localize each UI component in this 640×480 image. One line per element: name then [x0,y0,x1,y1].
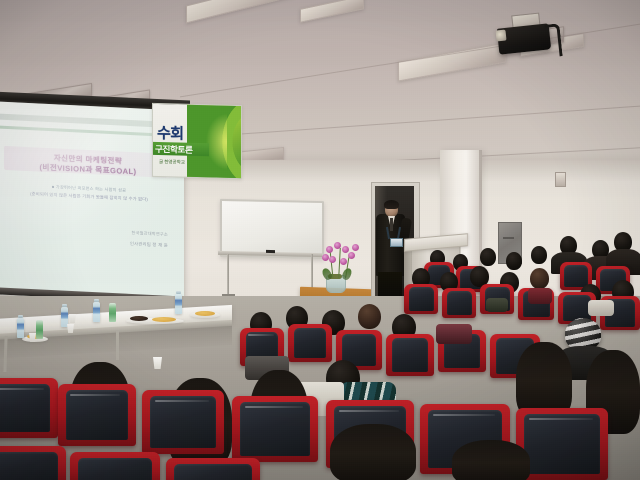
slide-credit-line-1: 한국철강대학연구소 [132,230,168,238]
seat-backrest-pad [150,396,216,448]
speaker-legs [378,272,402,298]
seat-highlight [245,406,303,408]
orchid-bloom [352,244,359,251]
table-leg [116,330,119,360]
audience-clothing [436,324,472,344]
ceiling-light-panel [186,0,294,23]
seat-backrest-pad [392,338,428,372]
bottle-cap [94,299,99,302]
seat-backrest-pad [447,291,472,315]
orchid-bloom [348,252,355,259]
audience-long-hair [330,424,416,480]
paper-cup [69,314,76,323]
audience-long-hair [452,440,530,480]
food-item [152,317,176,322]
wall-speaker-icon [555,172,566,187]
seat-backrest-pad [240,402,310,456]
seat-backrest-pad [409,287,434,311]
seat-highlight [0,388,44,390]
paper-cup [153,357,162,369]
audience-head [480,248,496,266]
audience-clothing [588,300,614,316]
seat-backrest-pad [294,328,326,358]
water-bottle [175,294,182,314]
slide-header-bar [0,114,172,128]
banner-footnote: 글 한영공학교 [159,159,185,166]
ceiling-seam [180,24,640,98]
seat-backrest-pad [78,458,152,480]
banner-title: 수회 [157,122,184,144]
orchid-bloom [322,254,329,261]
bottle-cap [176,291,181,294]
paper-cup [29,333,36,342]
orchid-bloom [342,246,349,253]
food-item [195,311,215,316]
audience-head [506,252,522,270]
water-bottle [93,302,100,322]
paper-cup [67,324,74,333]
seat-highlight [339,410,399,412]
water-bottle [61,307,68,327]
water-bottle [109,303,116,322]
slide-credit-line-2: 인사관리팀 정 재 윤 [130,241,168,249]
audience-head [531,246,547,264]
audience-clothing [486,298,508,312]
seat-highlight [248,334,274,336]
seat-backrest-pad [0,452,58,480]
slide-header-rule [0,126,176,138]
food-item [130,316,148,321]
seat-backrest-pad [66,390,128,440]
speaker-hair [384,200,399,209]
auditorium-photo: 발표자료 자신만의 마케팅전략 (비전VISION과 목표GOAL) ■ 가장뛰… [0,0,640,480]
name-badge [390,238,403,247]
seat-backrest-pad [564,265,588,287]
seat-highlight [155,400,209,402]
whiteboard-marker [266,250,275,253]
whiteboard-stand-leg [227,254,229,296]
banner-swoosh-highlight [197,113,227,170]
orchid-bloom [326,246,333,253]
banner-subtitle: 구진학토론 [155,143,193,156]
seat-highlight [433,414,495,416]
projector-lens-icon [495,30,506,42]
ceiling-light-panel [300,0,364,23]
audience-head [530,268,549,289]
speaker-necktie [390,218,393,231]
orchid-bloom [340,258,347,265]
seat-backrest-pad [0,384,50,432]
bottle-cap [62,304,67,307]
water-bottle [17,318,24,338]
seat-highlight [529,418,593,420]
seat-highlight [70,394,120,396]
bottle-cap [18,315,23,318]
orchid-bloom [329,256,336,263]
audience-clothing [528,288,552,304]
seat-backrest-pad [174,464,252,480]
orchid-bloom [334,242,341,249]
audience-head [358,304,381,329]
seat-backrest-pad [563,295,591,321]
event-banner: 수회 구진학토론 글 한영공학교 [152,103,242,179]
seat-backrest-pad [524,414,600,474]
wall-panel-slot [503,237,514,239]
water-bottle [36,320,43,339]
